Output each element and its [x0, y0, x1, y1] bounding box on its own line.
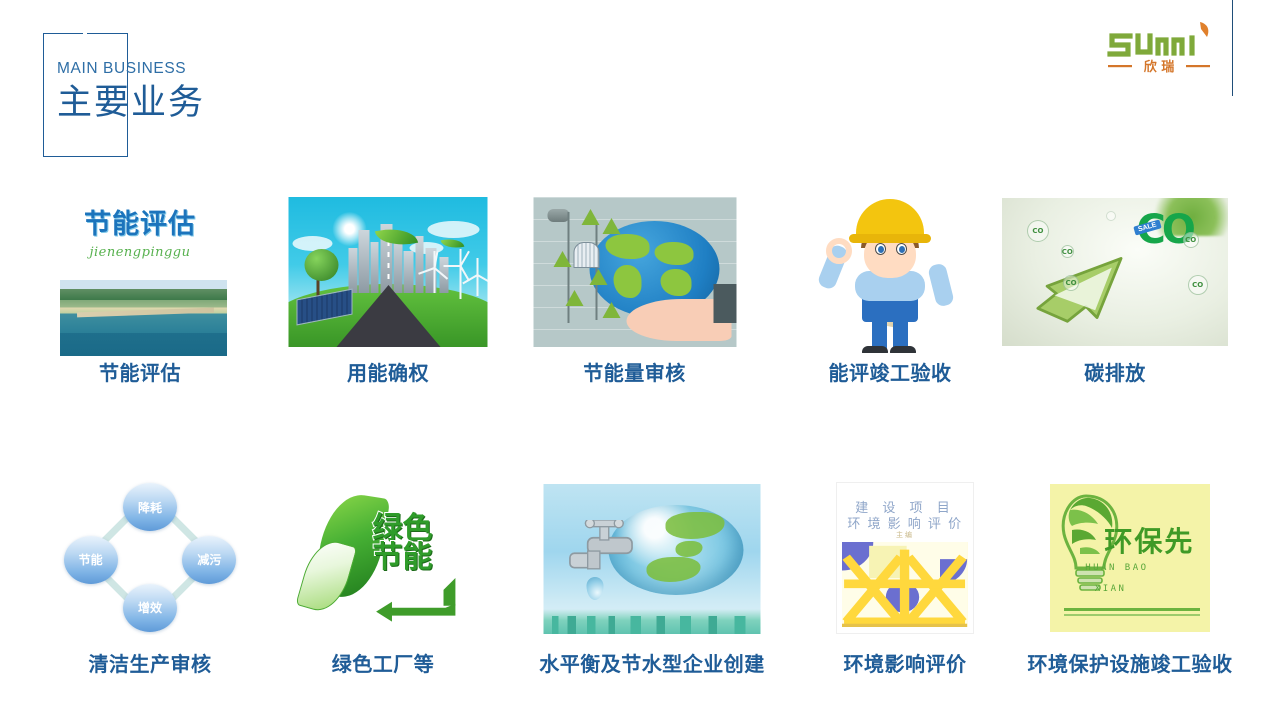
riverside-city-photo — [60, 280, 227, 356]
book-byline: 主编 — [837, 530, 973, 540]
card-label: 节能量审核 — [533, 357, 736, 386]
eia-book-cover-image: 建 设 项 目 环 境 影 响 评 价 主编 — [836, 482, 974, 634]
poster-title-pinyin: jienengpinggu — [89, 245, 190, 260]
card-label: 节能评估 — [40, 357, 240, 386]
poster-title-chinese: 节能评估 — [84, 202, 196, 241]
title-english: MAIN BUSINESS — [57, 60, 387, 77]
title-chinese: 主要业务 — [57, 81, 387, 125]
energy-saving-assessment-poster-image: 节能评估 jienengpinggu — [45, 185, 235, 361]
card-label: 清洁生产审核 — [40, 648, 260, 677]
ok-hand-gesture-icon — [826, 238, 852, 264]
wind-turbine-icon-3 — [468, 258, 486, 296]
card-label: 绿色工厂等 — [288, 648, 478, 677]
wind-turbine-icon — [424, 251, 444, 293]
city-silhouette — [544, 609, 761, 635]
poster-pinyin-line1: HUAN BAO — [1085, 561, 1210, 575]
eco-city-energy-rights-image — [289, 197, 488, 347]
eco-bulb-poster-image: 环保先 HUAN BAO XIAN — [1050, 484, 1210, 632]
card-label: 能评竣工验收 — [790, 357, 990, 386]
poster-pinyin-line2: XIAN — [1095, 582, 1210, 596]
recycle-arrow-icon — [369, 576, 464, 622]
construction-worker-cartoon-image — [815, 189, 965, 353]
company-logo: 欣 瑞 — [1100, 20, 1218, 78]
header-vertical-divider — [1232, 0, 1233, 96]
node-bottom: 增效 — [123, 584, 177, 632]
solar-panel-icon — [574, 242, 600, 268]
book-cover-geometric-art — [842, 542, 967, 628]
card-label: 水平衡及节水型企业创建 — [512, 648, 792, 677]
leaf-icon-outline — [296, 535, 358, 616]
hard-hat-icon — [856, 199, 924, 239]
node-left: 节能 — [64, 536, 118, 584]
logo-text-block: 绿色 节能 — [373, 515, 433, 573]
green-arrow-icon — [1020, 251, 1156, 325]
card-label: 碳排放 — [1002, 357, 1228, 386]
hand-holding-globe-image — [533, 197, 736, 347]
green-arrow-co2-image: CO SALE CO CO CO CO CO — [1002, 198, 1228, 346]
green-leaf-energy-logo-image: 绿色 节能 — [296, 482, 471, 634]
faucet-globe-water-image — [544, 484, 761, 634]
poster-heading-area: 节能评估 jienengpinggu — [45, 185, 235, 277]
logo-text-line2: 节能 — [373, 544, 433, 573]
page-title: MAIN BUSINESS 主要业务 — [57, 60, 387, 125]
node-top: 降耗 — [123, 483, 177, 531]
card-label: 环境保护设施竣工验收 — [1002, 648, 1258, 677]
node-right: 减污 — [182, 536, 236, 584]
clean-production-diamond-image: 降耗 节能 减污 增效 — [60, 480, 240, 635]
svg-text:欣 瑞: 欣 瑞 — [1144, 59, 1175, 75]
faucet-icon — [565, 520, 665, 571]
slide-root: MAIN BUSINESS 主要业务 欣 瑞 — [0, 0, 1280, 720]
card-label: 环境影响评价 — [820, 648, 990, 677]
poster-chinese-text: 环保先 — [1104, 520, 1194, 560]
card-label: 用能确权 — [288, 357, 488, 386]
logo-svg: 欣 瑞 — [1100, 20, 1218, 78]
